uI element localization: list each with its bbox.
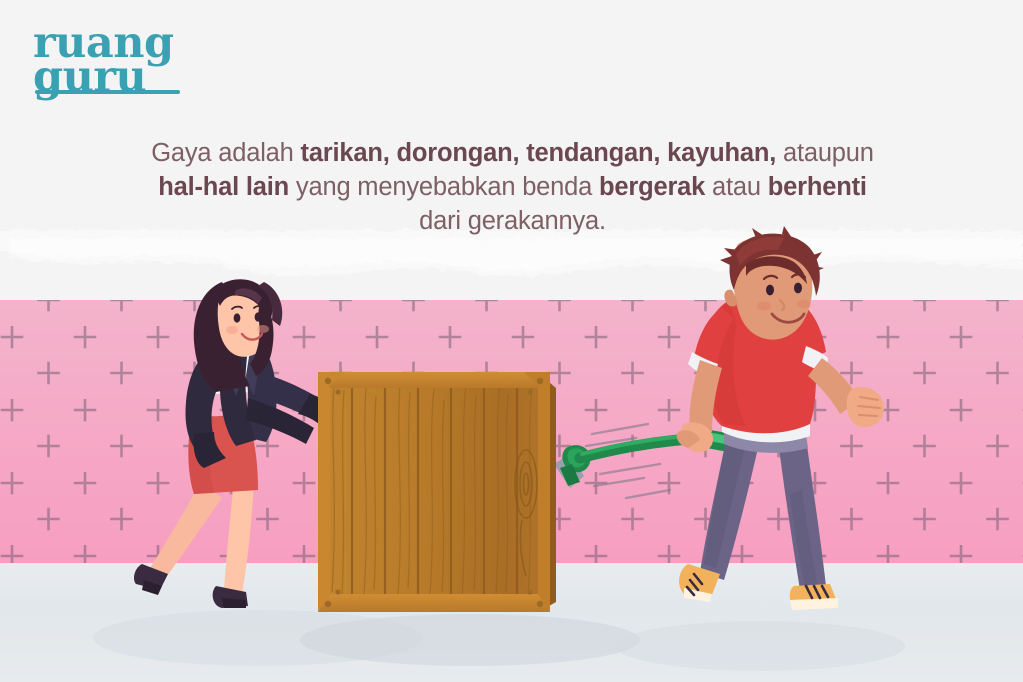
headline-line-2: hal-hal lain yang menyebabkan benda berg… (158, 173, 867, 201)
headline-seg-1: tarikan, dorongan, tendangan, kayuhan, (301, 139, 777, 167)
ruangguru-logo[interactable]: ruang guru (33, 26, 174, 95)
headline-seg-4: yang menyebabkan benda (289, 173, 599, 201)
logo-underline (35, 90, 180, 94)
headline-line-1: Gaya adalah tarikan, dorongan, tendangan… (151, 139, 874, 167)
headline-text: Gaya adalah tarikan, dorongan, tendangan… (90, 136, 935, 238)
wooden-crate (310, 366, 565, 618)
headline-seg-7: berhenti (768, 173, 867, 201)
headline-seg-5: bergerak (599, 173, 705, 201)
headline-line-3: dari gerakannya. (419, 207, 606, 235)
headline-seg-3: hal-hal lain (158, 173, 289, 201)
illustration-canvas: ruang guru Gaya adalah tarikan, dorongan… (0, 0, 1023, 682)
headline-seg-2: ataupun (776, 139, 874, 167)
boy-puller-figure (660, 234, 920, 646)
headline-seg-0: Gaya adalah (151, 139, 300, 167)
headline-seg-6: atau (705, 173, 768, 201)
